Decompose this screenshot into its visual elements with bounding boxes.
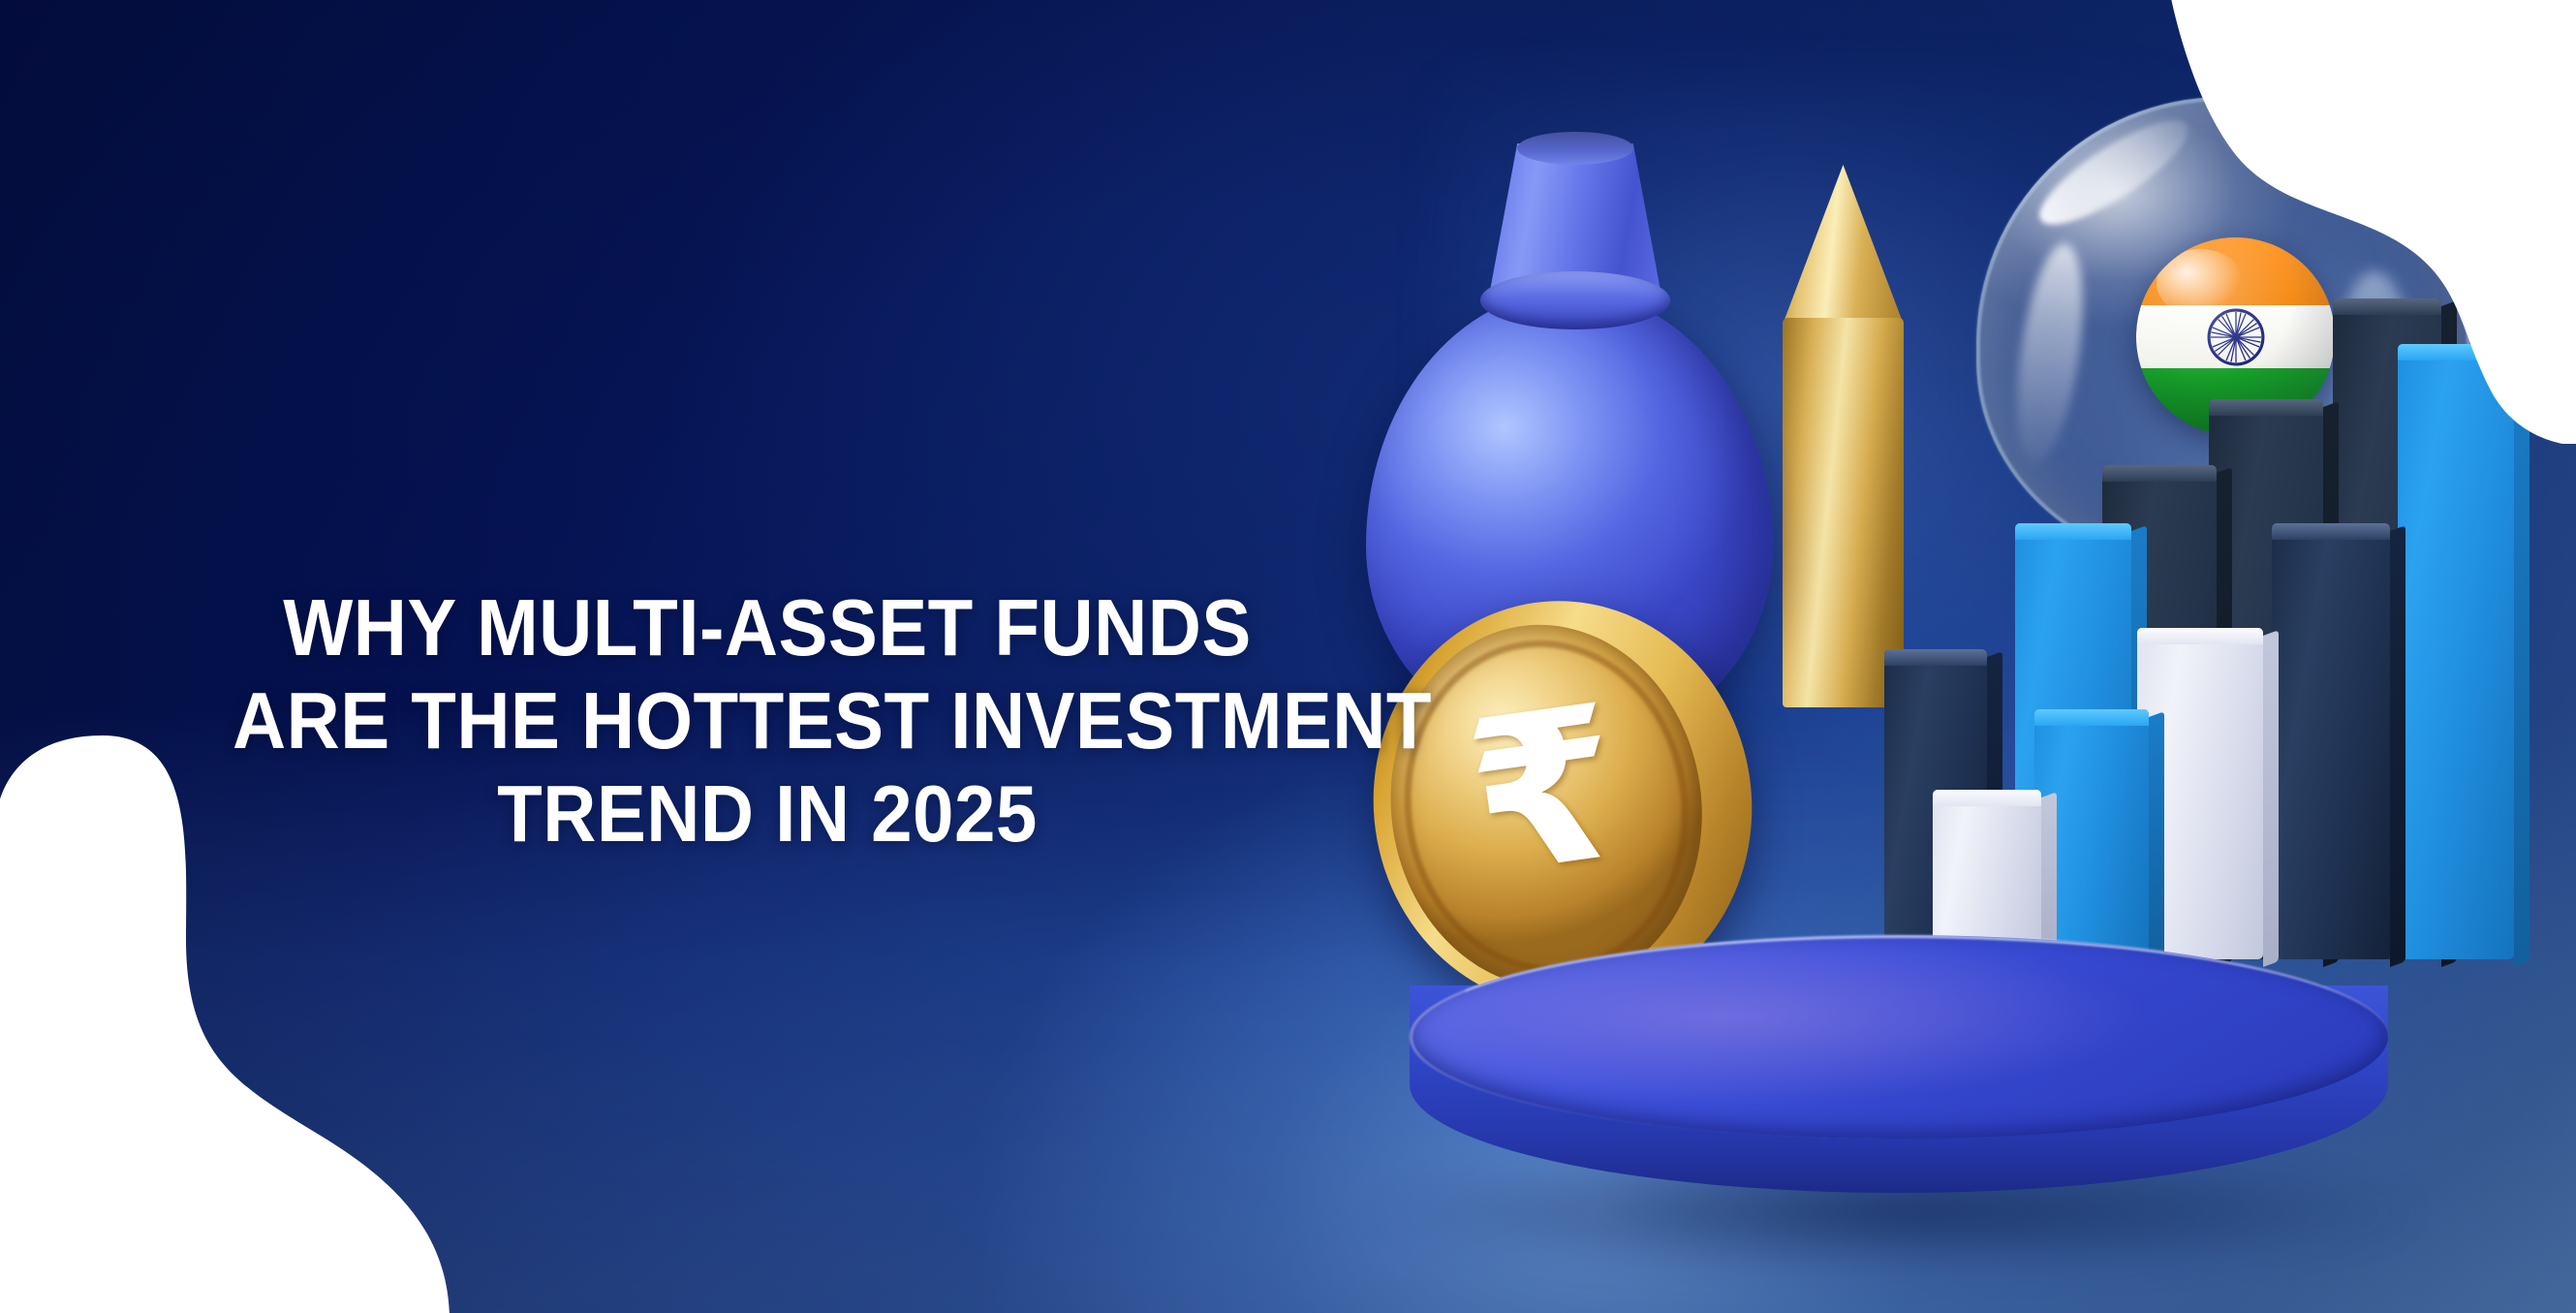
bar-chart-bar <box>2272 523 2390 959</box>
bar-side-face <box>2263 630 2279 967</box>
podium-rim-highlight <box>1410 935 2388 1139</box>
money-bag-neck-opening <box>1517 132 1633 165</box>
bar-top-face <box>1884 649 1987 666</box>
bar-top-face <box>1933 790 2041 806</box>
gold-pointed-column <box>1783 165 1904 707</box>
bar-top-face <box>2272 523 2390 540</box>
page-title: WHY MULTI-ASSET FUNDS ARE THE HOTTEST IN… <box>233 581 1302 860</box>
bar-top-face <box>2015 523 2131 540</box>
bar-chart-bar <box>2398 344 2514 959</box>
gold-column-shaft <box>1783 318 1904 707</box>
banner-image: ₹ WHY MULTI-ASSET FUNDS ARE THE HOTTEST … <box>0 0 2576 1313</box>
money-bag-tie-ring <box>1480 271 1670 329</box>
bar-top-face <box>2102 465 2217 482</box>
circular-podium <box>1410 935 2388 1245</box>
bar-side-face <box>2390 525 2405 967</box>
bar-top-face <box>2333 298 2441 315</box>
bar-top-face <box>2137 628 2263 644</box>
headline-line-1: WHY MULTI-ASSET FUNDS <box>233 581 1302 674</box>
bar-chart-bar <box>1933 790 2041 959</box>
bar-side-face <box>2514 346 2529 967</box>
headline-line-3: TREND IN 2025 <box>233 767 1302 860</box>
3d-illustration: ₹ <box>1356 58 2576 1279</box>
bar-top-face <box>2034 709 2149 726</box>
headline-line-2: ARE THE HOTTEST INVESTMENT <box>233 674 1302 767</box>
gold-column-tip <box>1783 165 1904 325</box>
bar-side-face <box>2149 711 2164 967</box>
bar-top-face <box>2209 399 2323 416</box>
money-bag-neck <box>1490 143 1660 291</box>
